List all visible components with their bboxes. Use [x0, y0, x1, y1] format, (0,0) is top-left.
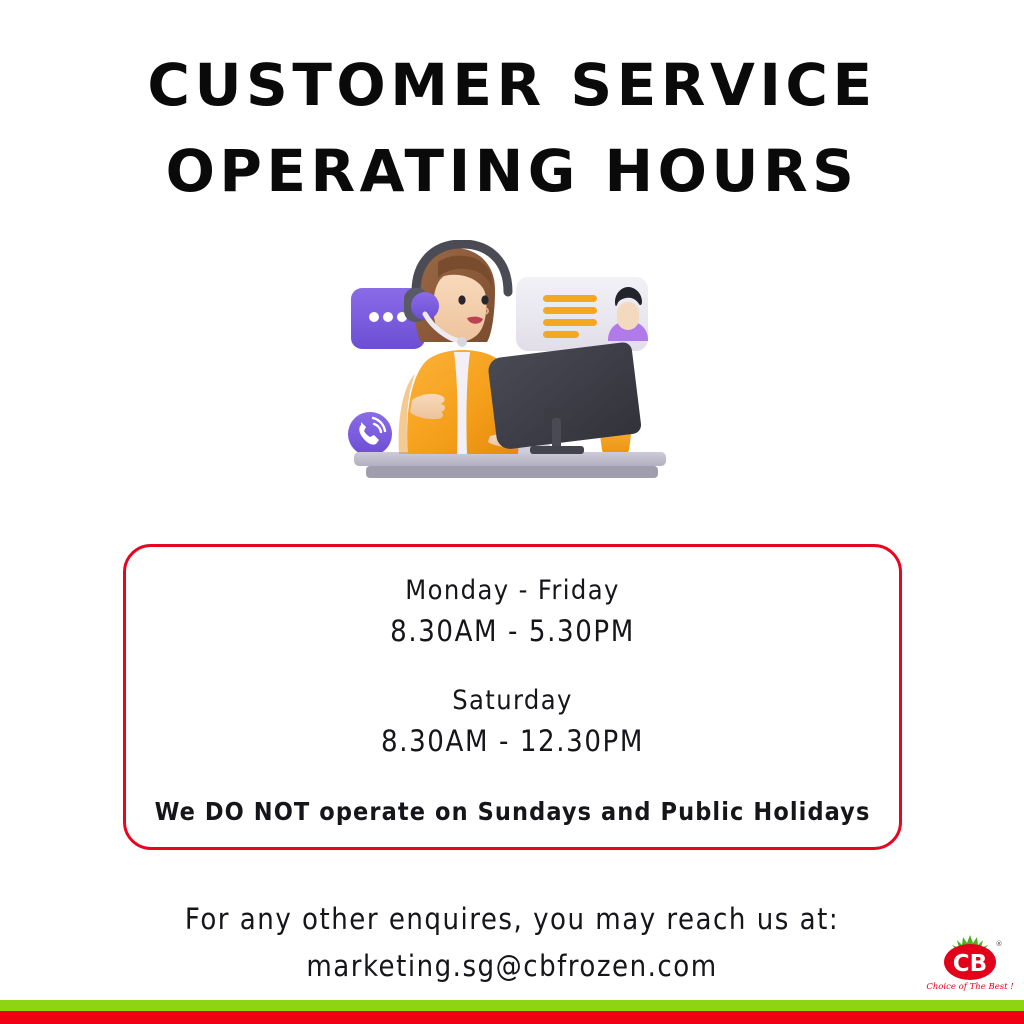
agent-scene-svg: [340, 240, 680, 510]
desk: [354, 452, 666, 478]
weekday-time: 8.30AM - 5.30PM: [390, 611, 635, 651]
operating-hours-box: Monday - Friday 8.30AM - 5.30PM Saturday…: [123, 544, 902, 850]
saturday-label: Saturday: [452, 681, 573, 721]
contact-footer: For any other enquires, you may reach us…: [0, 896, 1024, 990]
cb-logo: CB ® Choice of The Best !: [925, 932, 1015, 994]
customer-service-illustration: [340, 240, 680, 510]
bottom-bar-green: [0, 1000, 1024, 1011]
enquiry-line: For any other enquires, you may reach us…: [0, 896, 1024, 943]
contact-email[interactable]: marketing.sg@cbfrozen.com: [0, 943, 1024, 990]
saturday-time: 8.30AM - 12.30PM: [381, 721, 644, 761]
title-line-2: OPERATING HOURS: [0, 128, 1024, 214]
cb-logo-svg: CB ® Choice of The Best !: [925, 932, 1015, 994]
registered-mark: ®: [996, 940, 1003, 948]
page-title: CUSTOMER SERVICE OPERATING HOURS: [0, 42, 1024, 214]
closed-days-note: We DO NOT operate on Sundays and Public …: [155, 795, 871, 829]
poster-canvas: CUSTOMER SERVICE OPERATING HOURS: [0, 0, 1024, 1024]
bottom-bar-red: [0, 1011, 1024, 1024]
phone-call-icon: [348, 412, 392, 456]
title-line-1: CUSTOMER SERVICE: [0, 42, 1024, 128]
weekday-label: Monday - Friday: [405, 571, 620, 611]
logo-tagline: Choice of The Best !: [926, 982, 1013, 992]
logo-monogram: CB: [953, 951, 987, 977]
